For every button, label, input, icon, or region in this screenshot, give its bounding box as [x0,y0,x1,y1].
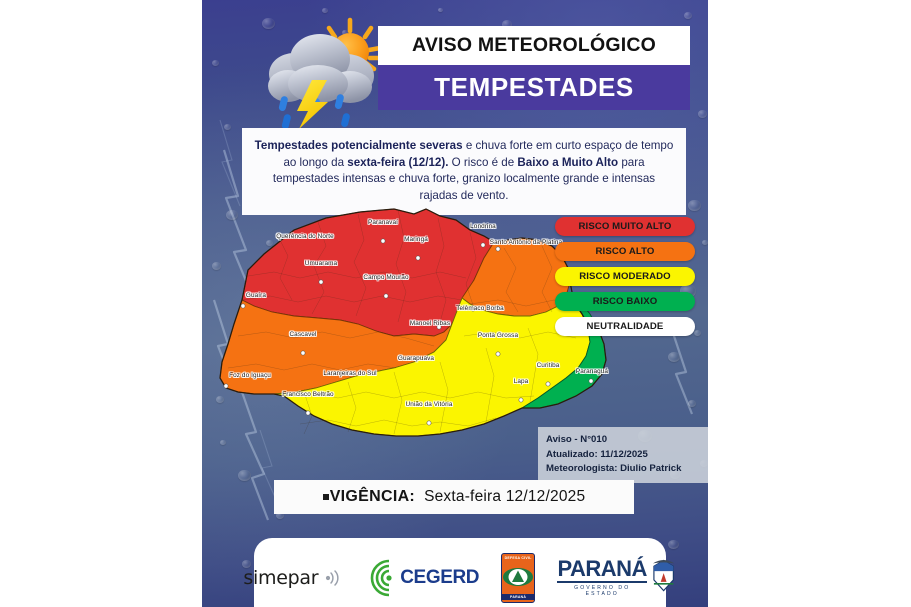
page-subtitle: TEMPESTADES [378,65,690,110]
water-droplet-icon [688,200,701,211]
cegerd-logo: CEGERD [369,558,479,598]
water-droplet-icon [698,110,707,118]
risk-map: ParanavaíQuerência do NorteMaringáLondri… [208,196,608,446]
parana-coat-of-arms-icon [651,558,676,596]
desc-seg5: Baixo a Muito Alto [517,156,618,169]
desc-seg4: O risco é de [448,156,517,169]
simepar-logo: simepar [243,567,347,589]
city-label: Umuarama [305,260,337,267]
city-dot [546,382,550,386]
water-droplet-icon [238,470,251,481]
city-dot [416,256,420,260]
city-dot [241,304,245,308]
city-dot [496,247,500,251]
city-label: Telêmaco Borba [456,305,504,312]
title-block: AVISO METEOROLÓGICO TEMPESTADES [378,26,690,110]
legend-item-3: RISCO BAIXO [555,292,695,311]
city-label: Cascavel [289,331,316,338]
water-droplet-icon [668,540,679,549]
water-droplet-icon [694,330,701,336]
notice-info-box: Aviso - N°010 Atualizado: 11/12/2025 Met… [538,427,708,483]
validity-value: Sexta-feira 12/12/2025 [424,488,585,506]
city-dot [319,280,323,284]
city-label: Manoel Ribas [410,320,450,327]
water-droplet-icon [322,8,328,13]
city-dot [496,352,500,356]
water-droplet-icon [668,352,680,362]
validity-label: VIGÊNCIA: [330,488,415,506]
city-label: Maringá [404,236,428,243]
notice-meteorologist: Meteorologista: Diulio Patrick [546,462,708,477]
defesa-civil-bottom-text: PARANÁ [502,594,534,600]
notice-updated: Atualizado: 11/12/2025 [546,448,708,463]
risk-legend: RISCO MUITO ALTORISCO ALTORISCO MODERADO… [555,217,695,342]
city-label: Curitiba [537,362,560,369]
parana-logo: PARANÁ GOVERNO DO ESTADO [557,558,676,596]
parana-map-svg [208,196,608,446]
city-dot [384,294,388,298]
city-label: Foz do Iguaçu [229,372,271,379]
page-title: AVISO METEOROLÓGICO [378,26,690,65]
water-droplet-icon [224,124,231,130]
parana-logo-text: PARANÁ [557,558,646,580]
water-droplet-icon [688,400,696,407]
city-label: Querência do Norte [276,233,334,240]
legend-item-4: NEUTRALIDADE [555,317,695,336]
cegerd-logo-text: CEGERD [400,567,479,589]
parana-logo-subtitle: GOVERNO DO ESTADO [557,585,647,597]
water-droplet-icon [702,240,708,245]
city-dot [481,243,485,247]
city-label: Guarapuava [398,355,434,362]
city-dot [301,351,305,355]
city-label: Santo Antônio da Platina [490,239,562,246]
city-dot [589,379,593,383]
legend-item-1: RISCO ALTO [555,242,695,261]
simepar-logo-text: simepar [243,567,318,589]
notice-number: Aviso - N°010 [546,433,708,448]
city-label: Lapa [514,378,529,385]
city-dot [306,411,310,415]
legend-item-0: RISCO MUITO ALTO [555,217,695,236]
city-dot [427,421,431,425]
city-dot [519,398,523,402]
city-dot [381,239,385,243]
bullet-square-icon [323,494,329,500]
city-label: Francisco Beltrão [282,391,333,398]
desc-seg3: sexta-feira (12/12). [347,156,448,169]
defesa-civil-top-text: DEFESA CIVIL [505,556,532,560]
city-label: Campo Mourão [363,274,408,281]
city-label: Laranjeiras do Sul [323,370,376,377]
city-label: União da Vitória [406,401,453,408]
defesa-civil-logo: DEFESA CIVIL PARANÁ [501,553,535,603]
water-droplet-icon [212,60,219,66]
signal-waves-icon [323,568,347,588]
water-droplet-icon [438,8,443,12]
city-label: Londrina [470,223,496,230]
poster-panel: AVISO METEOROLÓGICO TEMPESTADES Tempesta… [202,0,708,607]
city-label: Paranaguá [576,368,608,375]
validity-bar: VIGÊNCIA: Sexta-feira 12/12/2025 [274,480,634,514]
legend-item-2: RISCO MODERADO [555,267,695,286]
city-label: Paranavaí [368,219,398,226]
defesa-civil-triangle-icon [502,566,534,588]
footer-logos: simepar CEGERD DEFESA CIVIL [254,538,666,607]
water-droplet-icon [684,12,692,19]
desc-seg1: Tempestades potencialmente severas [255,139,463,152]
city-dot [224,384,228,388]
city-label: Guaíra [246,292,266,299]
city-label: Ponta Grossa [478,332,518,339]
